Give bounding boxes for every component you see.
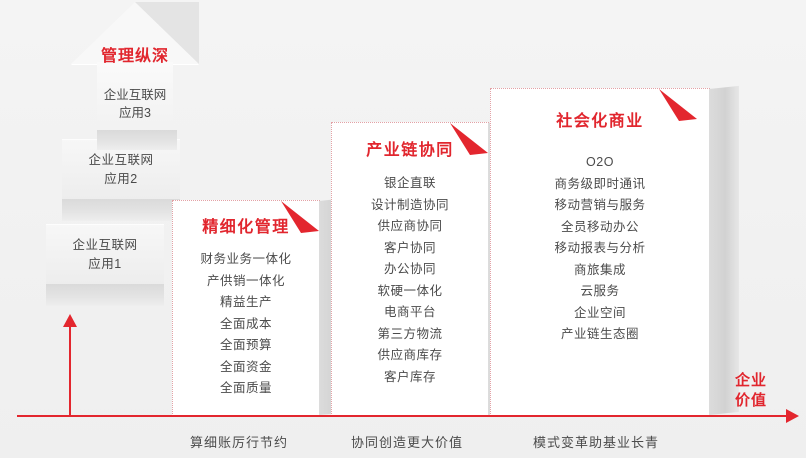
growth-arrow-head [63,314,77,327]
panel-3-title: 社会化商业 [491,107,709,131]
panel-social-business[interactable]: 社会化商业 O2O 商务级即时通讯 移动营销与服务 全员移动办公 移动报表与分析… [490,88,710,416]
panel-1-title: 精细化管理 [173,213,319,237]
list-item: 全员移动办公 [491,217,709,239]
list-item: 全面资金 [173,357,319,379]
caption-2: 协同创造更大价值 [351,432,463,451]
panel-2-list: 银企直联 设计制造协同 供应商协同 客户协同 办公协同 软硬一体化 电商平台 第… [332,173,488,388]
list-item: 供应商协同 [332,216,488,238]
panel-industry-chain-collaboration[interactable]: 产业链协同 银企直联 设计制造协同 供应商协同 客户协同 办公协同 软硬一体化 … [331,122,489,416]
list-item: 财务业务一体化 [173,249,319,271]
panel-2-title: 产业链协同 [332,136,488,160]
list-item: 全面质量 [173,378,319,400]
top-arrow-title: 管理纵深 [71,42,199,66]
value-axis-arrow-head [786,409,799,423]
stair-step-1-riser [46,284,164,306]
list-item: 供应商库存 [332,345,488,367]
diagram-canvas: 企业互联网 应用1 企业互联网 应用2 管理纵深 企业互联网 应用3 精细化管理… [0,0,806,458]
panel-refined-management[interactable]: 精细化管理 财务业务一体化 产供销一体化 精益生产 全面成本 全面预算 全面资金… [172,200,320,416]
list-item: 银企直联 [332,173,488,195]
top-arrow-block: 管理纵深 企业互联网 应用3 [71,2,199,134]
list-item: 精益生产 [173,292,319,314]
growth-arrow-shaft [69,326,71,416]
list-item: 企业空间 [491,303,709,325]
stair-step-1-label: 企业互联网 应用1 [72,236,137,274]
value-axis-line [17,415,790,417]
list-item: 商旅集成 [491,260,709,282]
panel-3-list: O2O 商务级即时通讯 移动营销与服务 全员移动办公 移动报表与分析 商旅集成 … [491,152,709,346]
panel-1-list: 财务业务一体化 产供销一体化 精益生产 全面成本 全面预算 全面资金 全面质量 [173,249,319,400]
list-item: 全面预算 [173,335,319,357]
list-item: 商务级即时通讯 [491,174,709,196]
list-item: 产业链生态圈 [491,324,709,346]
list-item: 电商平台 [332,302,488,324]
top-arrow-subtitle: 企业互联网 应用3 [71,86,199,122]
list-item: O2O [491,152,709,174]
value-axis-label: 企业 价值 [735,371,767,412]
panel-3-side-face [709,86,739,415]
stair-step-2-label: 企业互联网 应用2 [88,151,153,189]
list-item: 设计制造协同 [332,195,488,217]
list-item: 客户库存 [332,367,488,389]
list-item: 全面成本 [173,314,319,336]
list-item: 产供销一体化 [173,271,319,293]
list-item: 移动营销与服务 [491,195,709,217]
stair-step-2-riser [62,199,180,221]
list-item: 客户协同 [332,238,488,260]
stair-step-3-riser [97,130,177,150]
stair-step-1: 企业互联网 应用1 [46,224,164,284]
caption-1: 算细账厉行节约 [190,432,288,451]
list-item: 第三方物流 [332,324,488,346]
stair-step-1-face: 企业互联网 应用1 [46,224,164,284]
caption-3: 模式变革助基业长青 [533,432,659,451]
list-item: 软硬一体化 [332,281,488,303]
list-item: 移动报表与分析 [491,238,709,260]
list-item: 办公协同 [332,259,488,281]
list-item: 云服务 [491,281,709,303]
